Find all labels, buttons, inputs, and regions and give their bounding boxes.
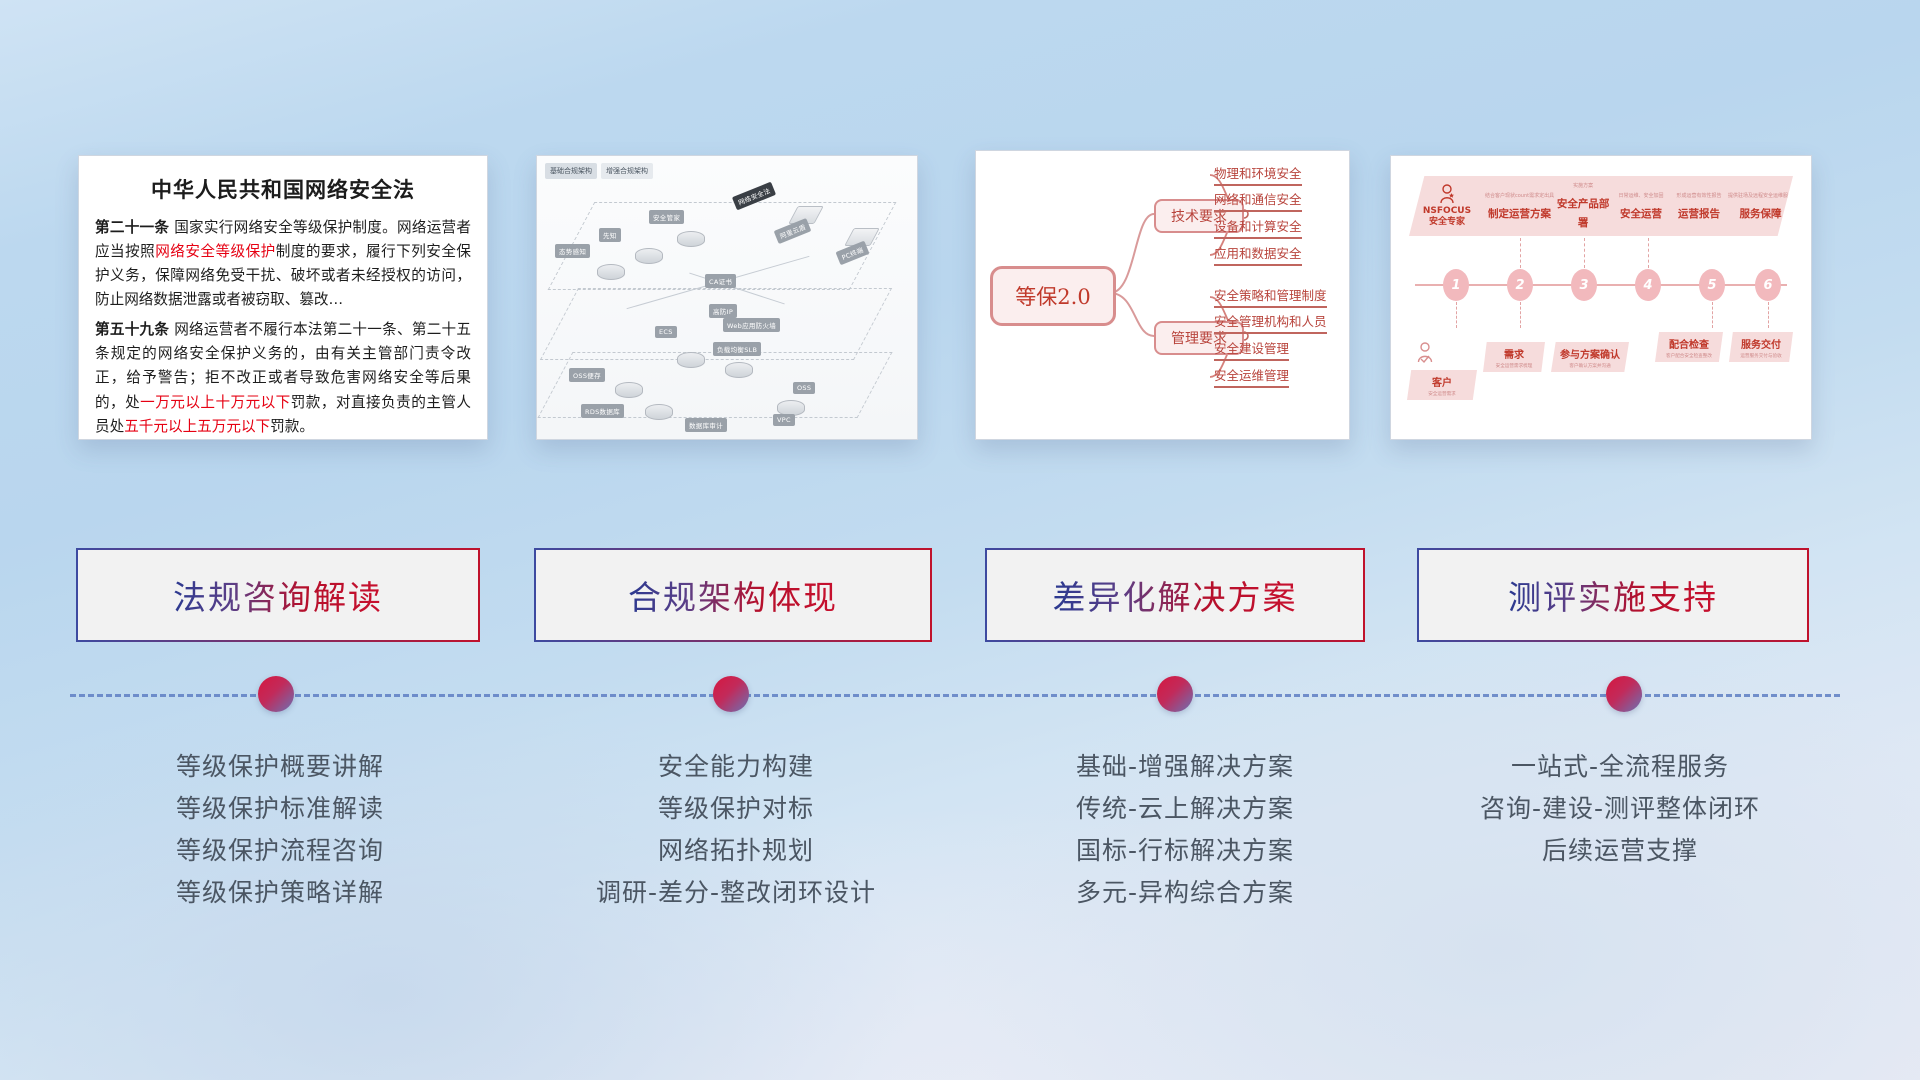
list-item: 多元-异构综合方案 [985,872,1385,914]
timeline-dot-2[interactable] [713,676,749,712]
arch-label-ca-certificate: CA证书 [705,274,736,288]
banner-compliance-architecture[interactable]: 合规架构体现 [534,548,932,642]
column-1-list: 等级保护概要讲解 等级保护标准解读 等级保护流程咨询 等级保护策略详解 [80,746,480,914]
nsfocus-band-cell-5: 提供驻场及远程安全运维服务 服务保障 [1728,192,1793,221]
nsfocus-tag-requirement-sub: 安全运营需求梳理 [1496,363,1533,369]
customer-person-icon [1415,342,1435,370]
nsfocus-tag-service-delivery: 服务交付 运营服务交付与验收 [1729,332,1793,362]
arch-label-situational-awareness: 态势感知 [555,244,590,258]
architecture-tabs[interactable]: 基础合规架构 增强合规架构 [545,163,653,179]
arch-label-oss: OSS [793,382,815,394]
expert-person-icon [1438,184,1456,204]
list-item: 后续运营支撑 [1420,830,1820,872]
mindmap-leaf-app-data: 应用和数据安全 [1214,243,1302,266]
nsfocus-tag-customer-title: 客户 [1432,374,1452,389]
arch-node-situational-awareness [597,264,625,280]
nsfocus-dash-3 [1584,238,1585,268]
nsfocus-tag-service-delivery-sub: 运营服务交付与验收 [1740,353,1781,359]
nsfocus-tag-confirm-plan-sub: 客户确认方案并沟通 [1569,363,1610,369]
nsfocus-tag-customer-sub: 安全运营需求 [1428,391,1456,397]
top-image-cards: 中华人民共和国网络安全法 第二十一条 国家实行网络安全等级保护制度。网络运营者应… [0,0,1920,460]
law-article-21: 第二十一条 国家实行网络安全等级保护制度。网络运营者应当按照网络安全等级保护制度… [95,216,471,312]
nsfocus-tag-inspection-sub: 客户配合安全检查整改 [1666,353,1712,359]
nsfocus-step-2: 2 [1507,269,1533,301]
list-item: 传统-云上解决方案 [985,788,1385,830]
banner-4-label: 测评实施支持 [1508,571,1718,619]
list-item: 基础-增强解决方案 [985,746,1385,788]
nsfocus-step-3: 3 [1571,269,1597,301]
mindmap-leaf-device-compute: 设备和计算安全 [1214,216,1302,239]
nsfocus-brand-block: NSFOCUS 安全专家 [1409,184,1485,229]
arch-label-slb: 负载均衡SLB [713,342,761,356]
column-4-items: 一站式-全流程服务 咨询-建设-测评整体闭环 后续运营支撑 [1420,746,1820,872]
timeline-dot-1[interactable] [258,676,294,712]
nsfocus-axis-line [1415,284,1787,286]
nsfocus-band-cell-3: 日常运维、安全加固 安全运营 [1612,192,1670,221]
banner-assessment-support[interactable]: 测评实施支持 [1417,548,1809,642]
banner-3-inner: 差异化解决方案 [987,550,1363,640]
card-cybersecurity-law[interactable]: 中华人民共和国网络安全法 第二十一条 国家实行网络安全等级保护制度。网络运营者应… [78,155,488,440]
nsfocus-dash-2 [1520,238,1521,268]
list-item: 咨询-建设-测评整体闭环 [1420,788,1820,830]
nsfocus-band-cell-3-main: 安全运营 [1620,208,1662,220]
list-item: 等级保护流程咨询 [80,830,480,872]
arch-label-anti-ddos-ip: 高防IP [709,304,737,318]
architecture-diagram: 基础合规架构 增强合规架构 态势感知 先知 安全管家 网络安全法 阿里云盾 PC… [537,156,917,439]
nsfocus-tag-inspection: 配合检查 客户配合安全检查整改 [1655,332,1723,362]
nsfocus-brand: NSFOCUS [1409,206,1485,217]
nsfocus-dash-b1 [1456,302,1457,328]
banner-4-inner: 测评实施支持 [1419,550,1807,640]
nsfocus-tag-requirement-title: 需求 [1504,346,1524,361]
column-1-items: 等级保护概要讲解 等级保护标准解读 等级保护流程咨询 等级保护策略详解 [80,746,480,914]
nsfocus-band-cell-4-sub: 形成运营有效性报告 [1670,192,1728,199]
law-article-59-label: 第五十九条 [95,321,169,338]
column-4-list: 一站式-全流程服务 咨询-建设-测评整体闭环 后续运营支撑 [1420,746,1820,872]
arch-label-oss-storage: OSS便存 [569,368,605,382]
tab-enhanced-architecture[interactable]: 增强合规架构 [601,163,653,179]
banner-1-inner: 法规咨询解读 [78,550,478,640]
nsfocus-band-cell-2: 实施方案 安全产品部署 [1554,182,1612,230]
law-article-59-highlight-2: 五千元以上五万元以下 [124,418,270,435]
nsfocus-band-cell-2-main: 安全产品部署 [1557,198,1610,229]
column-2-list: 安全能力构建 等级保护对标 网络拓扑规划 调研-差分-整改闭环设计 [536,746,936,914]
arch-label-vpc: VPC [773,414,795,426]
nsfocus-dash-b4 [1768,302,1769,328]
arch-node-xianzhi [635,248,663,264]
law-body: 中华人民共和国网络安全法 第二十一条 国家实行网络安全等级保护制度。网络运营者应… [79,156,487,439]
banner-2-label: 合规架构体现 [628,571,838,619]
list-item: 等级保护概要讲解 [80,746,480,788]
nsfocus-step-6: 6 [1755,269,1781,301]
nsfocus-dash-b3 [1712,302,1713,328]
mindmap: 等保2.0 技术要求 管理要求 物理和环境安全 网络和通信安全 设备和计算安全 … [976,151,1349,439]
arch-label-rds: RDS数据库 [581,404,624,418]
nsfocus-tag-confirm-plan-title: 参与方案确认 [1560,346,1620,361]
arch-label-security-butler: 安全管家 [649,210,684,224]
law-article-59-highlight-1: 一万元以上十万元以下 [140,394,291,411]
nsfocus-band-cell-4: 形成运营有效性报告 运营报告 [1670,192,1728,221]
nsfocus-timeline: NSFOCUS 安全专家 结合客户现状count需求定出具 制定运营方案 实施方… [1391,156,1811,439]
nsfocus-band-cell-1-sub: 结合客户现状count需求定出具 [1485,192,1554,199]
nsfocus-top-band: NSFOCUS 安全专家 结合客户现状count需求定出具 制定运营方案 实施方… [1409,176,1793,236]
nsfocus-step-4: 4 [1635,269,1661,301]
banner-3-label: 差异化解决方案 [1053,571,1298,619]
banner-differentiated-solution[interactable]: 差异化解决方案 [985,548,1365,642]
mindmap-leaf-physical-env: 物理和环境安全 [1214,163,1302,186]
nsfocus-band-cell-4-main: 运营报告 [1678,208,1720,220]
nsfocus-dash-b2 [1520,302,1521,328]
law-article-59: 第五十九条 网络运营者不履行本法第二十一条、第二十五条规定的网络安全保护义务的，… [95,318,471,438]
arch-label-ecs: ECS [655,326,677,338]
banner-1-label: 法规咨询解读 [173,571,383,619]
slide-canvas: 中华人民共和国网络安全法 第二十一条 国家实行网络安全等级保护制度。网络运营者应… [0,0,1920,1080]
nsfocus-band-cell-1-main: 制定运营方案 [1488,208,1551,220]
nsfocus-tag-requirement: 需求 安全运营需求梳理 [1483,342,1545,372]
column-3-list: 基础-增强解决方案 传统-云上解决方案 国标-行标解决方案 多元-异构综合方案 [985,746,1385,914]
mindmap-leaf-build-mgmt: 安全建设管理 [1214,338,1289,361]
law-article-59-post: 罚款。 [270,418,314,435]
law-article-21-label: 第二十一条 [95,219,169,236]
timeline-dot-3[interactable] [1157,676,1193,712]
list-item: 等级保护标准解读 [80,788,480,830]
timeline-dashed-line [70,694,1840,697]
arch-label-xianzhi: 先知 [599,228,621,242]
arch-node-rds [645,404,673,420]
law-title: 中华人民共和国网络安全法 [95,174,471,204]
nsfocus-dash-4 [1648,238,1649,268]
nsfocus-tag-confirm-plan: 参与方案确认 客户确认方案并沟通 [1551,342,1629,372]
arch-node-ecs [677,352,705,368]
nsfocus-step-5: 5 [1699,269,1725,301]
card-nsfocus-service-timeline[interactable]: NSFOCUS 安全专家 结合客户现状count需求定出具 制定运营方案 实施方… [1390,155,1812,440]
card-mindmap-dengbao[interactable]: 等保2.0 技术要求 管理要求 物理和环境安全 网络和通信安全 设备和计算安全 … [975,150,1350,440]
arch-label-waf: Web应用防火墙 [723,318,780,332]
arch-label-db-audit: 数据库审计 [685,418,727,432]
list-item: 国标-行标解决方案 [985,830,1385,872]
arch-node-oss-storage [615,382,643,398]
banner-regulation-consulting[interactable]: 法规咨询解读 [76,548,480,642]
mindmap-root: 等保2.0 [990,266,1116,326]
tab-basic-architecture[interactable]: 基础合规架构 [545,163,597,179]
card-compliance-architecture[interactable]: 基础合规架构 增强合规架构 态势感知 先知 安全管家 网络安全法 阿里云盾 PC… [536,155,918,440]
nsfocus-tag-customer: 客户 安全运营需求 [1407,370,1477,400]
mindmap-leaf-org-personnel: 安全管理机构和人员 [1214,311,1327,334]
mindmap-leaf-network-comm: 网络和通信安全 [1214,189,1302,212]
mindmap-leaf-ops-mgmt: 安全运维管理 [1214,365,1289,388]
nsfocus-tag-inspection-title: 配合检查 [1669,336,1709,351]
column-3-items: 基础-增强解决方案 传统-云上解决方案 国标-行标解决方案 多元-异构综合方案 [985,746,1385,914]
list-item: 网络拓扑规划 [536,830,936,872]
nsfocus-band-cell-5-sub: 提供驻场及远程安全运维服务 [1728,192,1793,199]
list-item: 调研-差分-整改闭环设计 [536,872,936,914]
law-article-21-highlight: 网络安全等级保护 [155,243,275,260]
list-item: 等级保护策略详解 [80,872,480,914]
nsfocus-band-cell-1: 结合客户现状count需求定出具 制定运营方案 [1485,192,1554,221]
nsfocus-band-cell-5-main: 服务保障 [1739,208,1781,220]
list-item: 安全能力构建 [536,746,936,788]
nsfocus-band-cell-2-sub: 实施方案 [1554,182,1612,189]
nsfocus-band-cell-3-sub: 日常运维、安全加固 [1612,192,1670,199]
nsfocus-step-1: 1 [1443,269,1469,301]
timeline-dot-4[interactable] [1606,676,1642,712]
nsfocus-tag-service-delivery-title: 服务交付 [1741,336,1781,351]
column-2-items: 安全能力构建 等级保护对标 网络拓扑规划 调研-差分-整改闭环设计 [536,746,936,914]
list-item: 等级保护对标 [536,788,936,830]
arch-node-slb [725,362,753,378]
mindmap-leaf-policy-system: 安全策略和管理制度 [1214,285,1327,308]
arch-node-security-butler [677,231,705,247]
nsfocus-brand-sub: 安全专家 [1409,217,1485,228]
list-item: 一站式-全流程服务 [1420,746,1820,788]
banner-2-inner: 合规架构体现 [536,550,930,640]
